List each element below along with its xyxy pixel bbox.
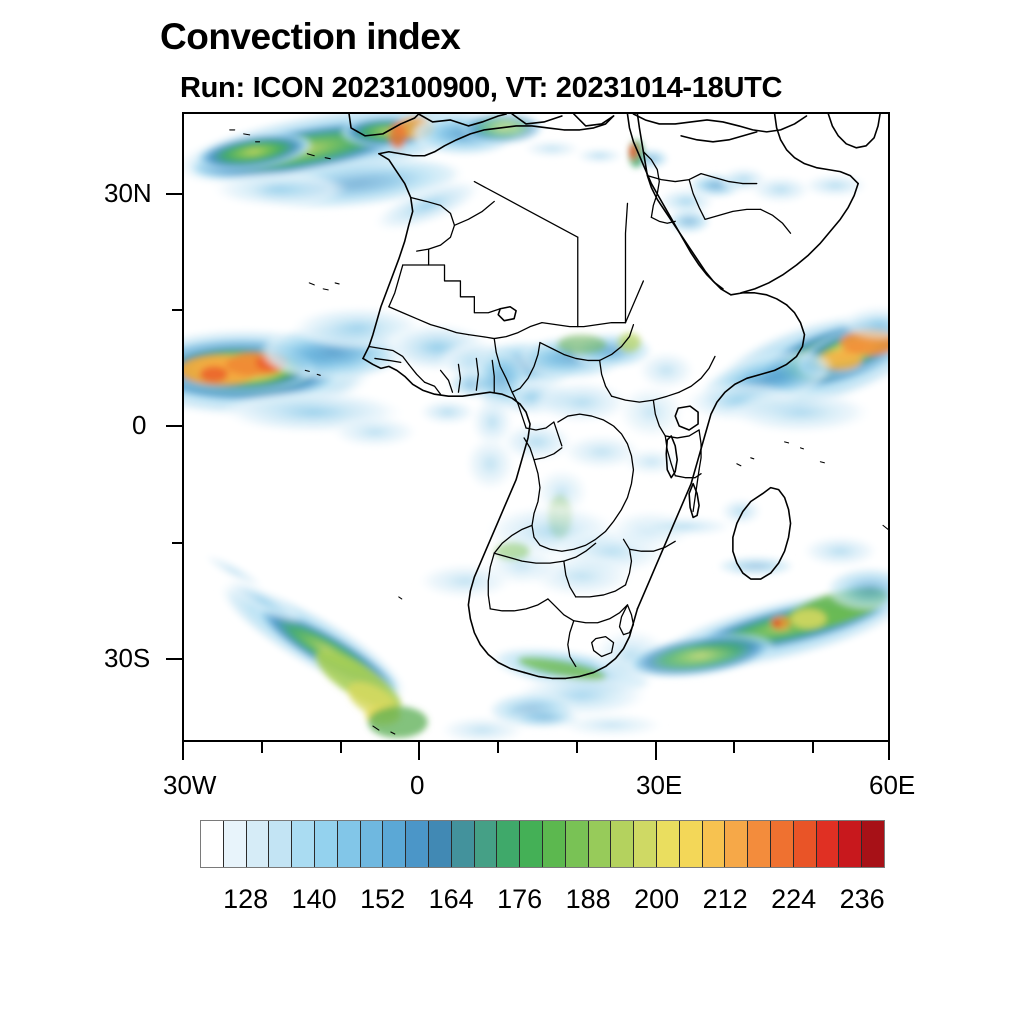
colorbar-tick-label: 224 [771,884,816,915]
colorbar-segment [794,821,817,867]
colorbar-segment [429,821,452,867]
colorbar-segment [497,821,520,867]
colorbar-segment [634,821,657,867]
colorbar-segment [589,821,612,867]
colorbar-segment [680,821,703,867]
colorbar-tick-label: 140 [292,884,337,915]
colorbar-tick-label: 212 [703,884,748,915]
xaxis-tick-40e [733,742,735,753]
colorbar-tick-label: 188 [566,884,611,915]
colorbar-segment [361,821,384,867]
colorbar-segment [292,821,315,867]
colorbar-segment [247,821,270,867]
xaxis-label-60e: 60E [869,770,915,801]
map-canvas [184,114,888,740]
run-valid-time-subtitle: Run: ICON 2023100900, VT: 20231014-18UTC [180,72,782,105]
colorbar-segment [406,821,429,867]
yaxis-label-30n: 30N [104,178,152,209]
colorbar [200,820,885,868]
colorbar-segment [452,821,475,867]
xaxis-tick-60e [888,742,890,760]
xaxis-label-0: 0 [410,770,424,801]
colorbar-segment [611,821,634,867]
colorbar-segment [269,821,292,867]
yaxis-tick-0 [166,425,184,427]
xaxis-tick-30w [182,742,184,760]
colorbar-tick-label: 164 [429,884,474,915]
xaxis-tick-0 [418,742,420,760]
colorbar-segment [703,821,726,867]
colorbar-segment [839,821,862,867]
yaxis-label-30s: 30S [104,643,150,674]
colorbar-tick-label: 176 [497,884,542,915]
colorbar-tick-label: 128 [223,884,268,915]
colorbar-segment [520,821,543,867]
yaxis-tick-30n [166,193,184,195]
colorbar-segment [338,821,361,867]
xaxis-tick-10e [497,742,499,753]
colorbar-segment [725,821,748,867]
colorbar-segment [862,821,884,867]
weather-map-figure: Convection index Run: ICON 2023100900, V… [0,0,1024,1024]
xaxis-tick-20e [576,742,578,753]
colorbar-segment [543,821,566,867]
colorbar-segment [771,821,794,867]
map-plot-area [182,112,890,742]
colorbar-segment [475,821,498,867]
colorbar-segment [817,821,840,867]
xaxis-tick-30e [655,742,657,760]
colorbar-segment [315,821,338,867]
xaxis-tick-50e [812,742,814,753]
colorbar-segment [201,821,224,867]
colorbar-segment [383,821,406,867]
colorbar-tick-label: 200 [634,884,679,915]
colorbar-segment [657,821,680,867]
xaxis-label-30e: 30E [636,770,682,801]
xaxis-tick-20w [261,742,263,753]
xaxis-label-30w: 30W [163,770,216,801]
yaxis-tick-15s [172,542,184,544]
xaxis-tick-10w [340,742,342,753]
colorbar-segment [748,821,771,867]
page-title: Convection index [160,16,460,58]
colorbar-segment [224,821,247,867]
colorbar-tick-label: 236 [840,884,885,915]
colorbar-segment [566,821,589,867]
yaxis-tick-15n [172,309,184,311]
colorbar-tick-label: 152 [360,884,405,915]
yaxis-tick-30s [166,658,184,660]
yaxis-label-0: 0 [132,410,146,441]
map-svg [184,114,888,740]
